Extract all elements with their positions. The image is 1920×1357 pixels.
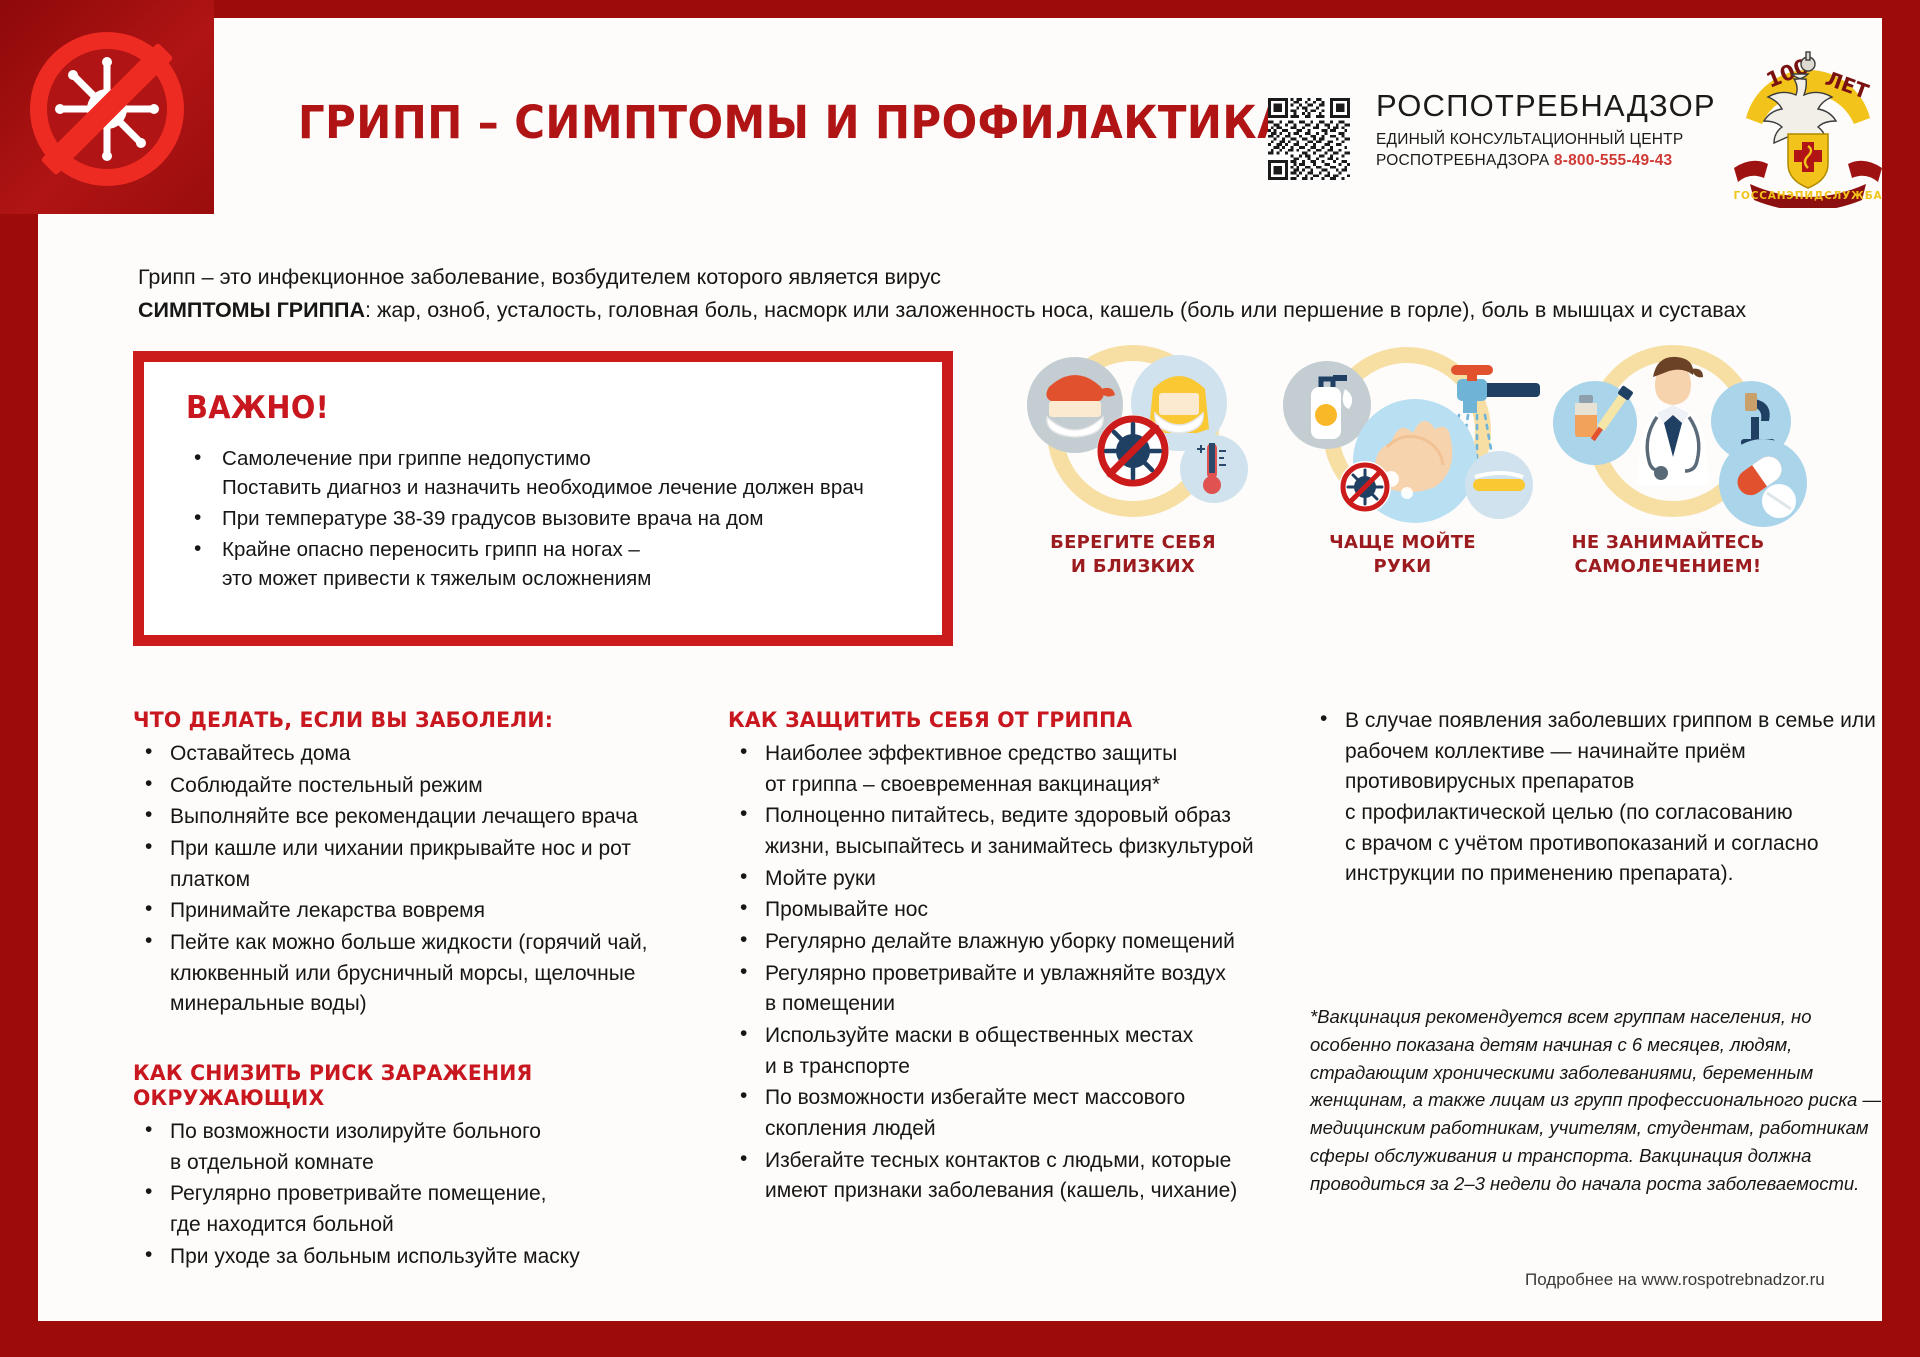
list-item: Используйте маски в общественных местахи… (728, 1021, 1288, 1082)
list-item: Оставайтесь дома (133, 739, 703, 770)
virus-prohibited-icon (30, 32, 184, 186)
section-heading-what-to-do: ЧТО ДЕЛАТЬ, ЕСЛИ ВЫ ЗАБОЛЕЛИ: (133, 708, 675, 733)
important-heading: ВАЖНО! (186, 390, 889, 426)
list-item: Полноценно питайтесь, ведите здоровый об… (728, 801, 1288, 862)
illustration-wash-hands: ЧАЩЕ МОЙТЕРУКИ (1265, 343, 1540, 533)
vaccination-footnote: *Вакцинация рекомендуется всем группам н… (1310, 1003, 1890, 1197)
symptoms-label: СИМПТОМЫ ГРИППА (138, 298, 365, 322)
illustration-protect-yourself: БЕРЕГИТЕ СЕБЯИ БЛИЗКИХ (983, 343, 1283, 533)
list-item: Наиболее эффективное средство защитыот г… (728, 739, 1288, 800)
page-title: ГРИПП – СИМПТОМЫ И ПРОФИЛАКТИКА (298, 96, 1290, 149)
section-heading-how-to-protect: КАК ЗАЩИТИТЬ СЕБЯ ОТ ГРИППА (728, 708, 1260, 733)
emblem-ribbon-text: ГОССАНЭПИДСЛУЖБА (1734, 190, 1883, 202)
list-item: Пейте как можно больше жидкости (горячий… (133, 928, 703, 1020)
column-what-to-do: ЧТО ДЕЛАТЬ, ЕСЛИ ВЫ ЗАБОЛЕЛИ: Оставайтес… (133, 708, 703, 1273)
poster-canvas: ГРИПП – СИМПТОМЫ И ПРОФИЛАКТИКА (38, 18, 1882, 1321)
list-item: По возможности изолируйте больногов отде… (133, 1117, 703, 1178)
brand-subline-2: РОСПОТРЕБНАДЗОРА 8-800-555-49-43 (1376, 151, 1716, 172)
list-item: Принимайте лекарства вовремя (133, 896, 703, 927)
list-item: При температуре 38-39 градусов вызовите … (184, 504, 912, 533)
brand-subline-2-text: РОСПОТРЕБНАДЗОРА (1376, 152, 1549, 169)
illustration-row: БЕРЕГИТЕ СЕБЯИ БЛИЗКИХ (983, 343, 1813, 653)
list-item: По возможности избегайте мест массовогос… (728, 1083, 1288, 1144)
intro-line-1: Грипп – это инфекционное заболевание, во… (138, 261, 1858, 294)
column-how-to-protect: КАК ЗАЩИТИТЬ СЕБЯ ОТ ГРИППА Наиболее эфф… (728, 708, 1288, 1208)
list-reduce-risk: По возможности изолируйте больногов отде… (133, 1117, 703, 1272)
list-item: Соблюдайте постельный режим (133, 771, 703, 802)
gossanepidsluzhba-emblem-icon: 100 ЛЕТ ГОССАНЭПИДСЛУЖБА (1728, 40, 1888, 208)
list-item: Регулярно проветривайте и увлажняйте воз… (728, 959, 1288, 1020)
qr-code[interactable] (1268, 98, 1350, 180)
rospotrebnadzor-brand: РОСПОТРЕБНАДЗОР ЕДИНЫЙ КОНСУЛЬТАЦИОННЫЙ … (1376, 90, 1716, 172)
intro-line-2: СИМПТОМЫ ГРИППА: жар, озноб, усталость, … (138, 294, 1858, 327)
list-how-to-protect: Наиболее эффективное средство защитыот г… (728, 739, 1288, 1207)
list-item: Самолечение при гриппе недопустимоПостав… (184, 444, 912, 502)
illustration-caption: НЕ ЗАНИМАЙТЕСЬСАМОЛЕЧЕНИЕМ! (1571, 531, 1764, 580)
more-info-link[interactable]: Подробнее на www.rospotrebnadzor.ru (1525, 1270, 1825, 1290)
intro-block: Грипп – это инфекционное заболевание, во… (138, 261, 1858, 328)
section-divider-space (133, 1021, 703, 1061)
list-item: Промывайте нос (728, 895, 1288, 926)
list-item: Регулярно проветривайте помещение,где на… (133, 1179, 703, 1240)
illustration-caption: ЧАЩЕ МОЙТЕРУКИ (1329, 531, 1476, 580)
important-callout-box: ВАЖНО! Самолечение при гриппе недопустим… (133, 351, 953, 646)
poster-header: ГРИПП – СИМПТОМЫ И ПРОФИЛАКТИКА (38, 18, 1882, 232)
illustration-caption: БЕРЕГИТЕ СЕБЯИ БЛИЗКИХ (1050, 531, 1216, 580)
list-item: Выполняйте все рекомендации лечащего вра… (133, 802, 703, 833)
list-item: Регулярно делайте влажную уборку помещен… (728, 927, 1288, 958)
list-item: Крайне опасно переносить грипп на ногах … (184, 535, 912, 593)
hotline-phone[interactable]: 8-800-555-49-43 (1554, 152, 1672, 169)
important-list: Самолечение при гриппе недопустимоПостав… (184, 444, 912, 594)
section-heading-reduce-risk: КАК СНИЗИТЬ РИСК ЗАРАЖЕНИЯ ОКРУЖАЮЩИХ (133, 1061, 675, 1111)
list-antivirals: В случае появления заболевших гриппом в … (1308, 706, 1878, 890)
list-item: При кашле или чихании прикрывайте нос и … (133, 834, 703, 895)
illustration-no-self-medication: НЕ ЗАНИМАЙТЕСЬСАМОЛЕЧЕНИЕМ! (1523, 343, 1813, 533)
list-item: В случае появления заболевших гриппом в … (1308, 706, 1878, 890)
list-item: Мойте руки (728, 864, 1288, 895)
list-what-to-do: Оставайтесь дома Соблюдайте постельный р… (133, 739, 703, 1020)
symptoms-text: : жар, озноб, усталость, головная боль, … (365, 298, 1746, 322)
column-antivirals: В случае появления заболевших гриппом в … (1308, 706, 1878, 891)
list-item: При уходе за больным используйте маску (133, 1242, 703, 1273)
brand-subline-1: ЕДИНЫЙ КОНСУЛЬТАЦИОННЫЙ ЦЕНТР (1376, 130, 1716, 151)
list-item: Избегайте тесных контактов с людьми, кот… (728, 1146, 1288, 1207)
brand-name: РОСПОТРЕБНАДЗОР (1376, 90, 1716, 121)
